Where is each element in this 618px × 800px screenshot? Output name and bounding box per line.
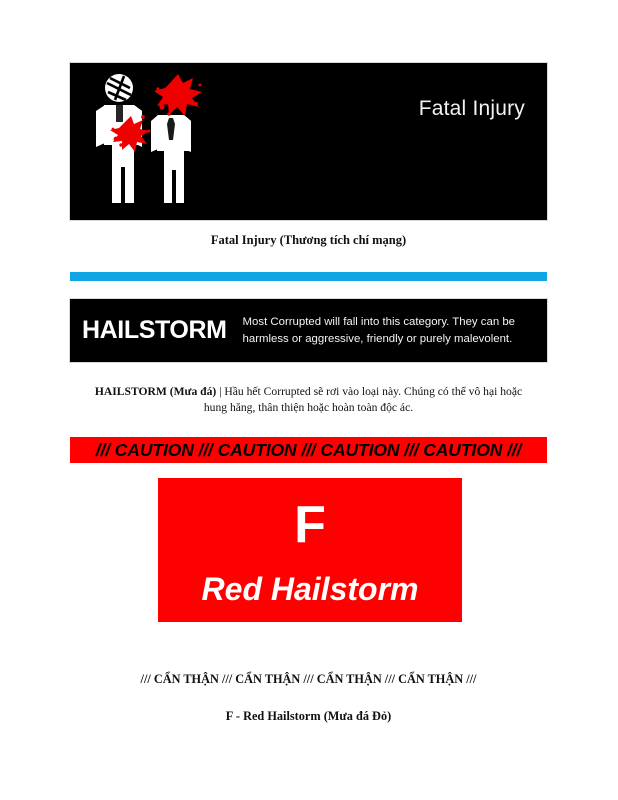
- hailstorm-title: HAILSTORM: [70, 316, 243, 345]
- caution-caption-vn: /// CẨN THẬN /// CẨN THẬN /// CẨN THẬN /…: [70, 671, 547, 688]
- hailstorm-caption-term: HAILSTORM (Mưa đá): [95, 385, 216, 398]
- grade-red-block: F Red Hailstorm: [158, 478, 462, 622]
- grade-letter: F: [294, 499, 326, 551]
- injured-figures-icon: [86, 71, 206, 211]
- blue-divider-bar: [70, 272, 547, 281]
- grade-caption-vn: F - Red Hailstorm (Mưa đá Đỏ): [70, 708, 547, 725]
- hailstorm-caption-body: | Hầu hết Corrupted sẽ rơi vào loại này.…: [204, 385, 522, 414]
- hailstorm-banner: HAILSTORM Most Corrupted will fall into …: [70, 299, 547, 362]
- fatal-injury-banner: Fatal Injury: [70, 63, 547, 220]
- grade-name: Red Hailstorm: [202, 573, 419, 605]
- caution-tape-banner: /// CAUTION /// CAUTION /// CAUTION /// …: [70, 437, 547, 463]
- hailstorm-description: Most Corrupted will fall into this categ…: [243, 314, 547, 346]
- hailstorm-caption: HAILSTORM (Mưa đá) | Hầu hết Corrupted s…: [70, 384, 547, 415]
- caution-tape-text: /// CAUTION /// CAUTION /// CAUTION /// …: [96, 440, 522, 461]
- fatal-injury-caption: Fatal Injury (Thương tích chí mạng): [70, 232, 547, 249]
- document-page: Fatal Injury Fatal Injury (Thương tích c…: [0, 0, 618, 800]
- fatal-injury-label: Fatal Injury: [419, 97, 525, 121]
